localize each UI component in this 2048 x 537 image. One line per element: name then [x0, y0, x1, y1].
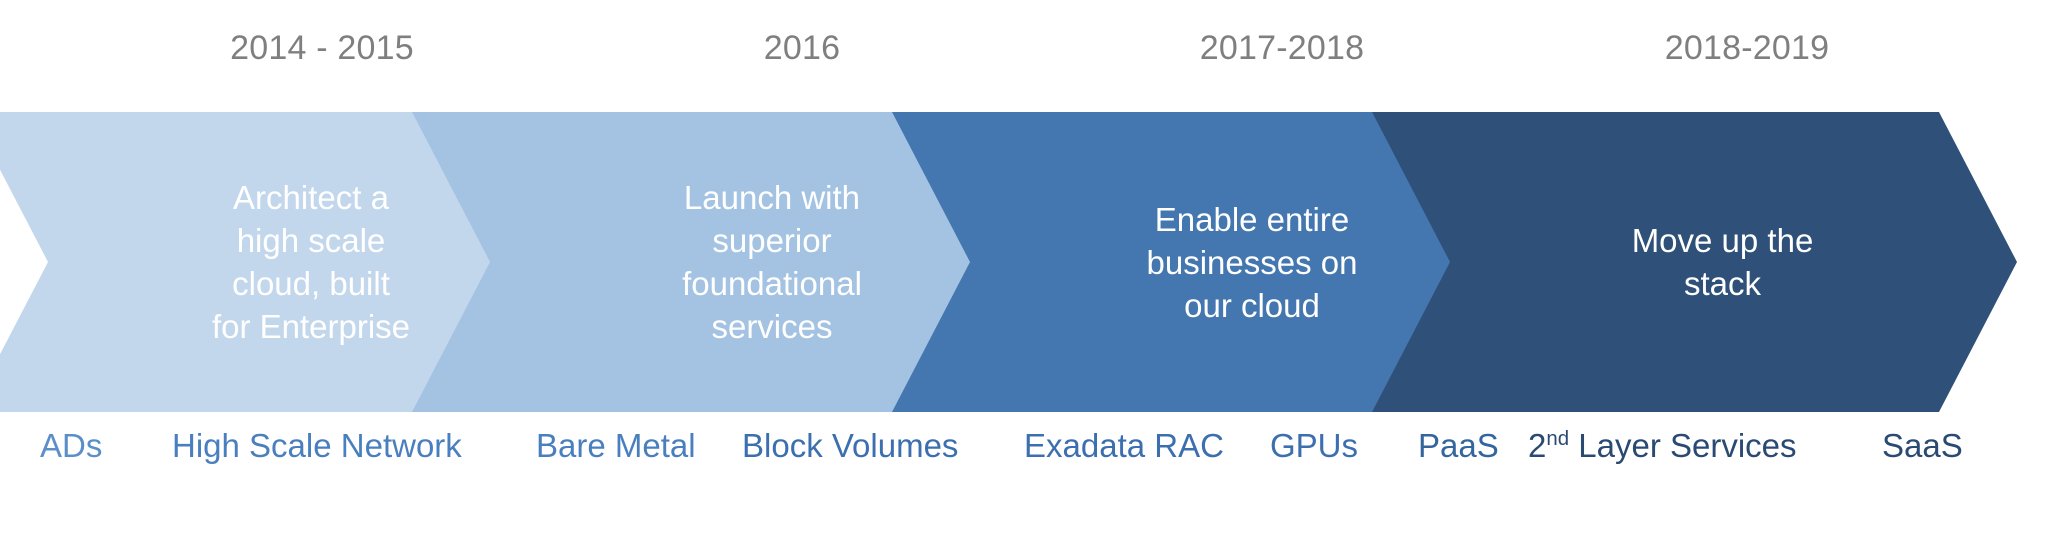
service-label-gpus[interactable]: GPUs	[1270, 424, 1358, 468]
service-label-block-volumes[interactable]: Block Volumes	[742, 424, 958, 468]
service-label-bare-metal[interactable]: Bare Metal	[536, 424, 696, 468]
phase-4-headline: Move up the stack	[1562, 219, 1828, 305]
service-label-exadata-rac[interactable]: Exadata RAC	[1024, 424, 1224, 468]
service-label-saas[interactable]: SaaS	[1882, 424, 1963, 468]
year-label-phase-1: 2014 - 2015	[48, 26, 596, 70]
roadmap-timeline: 2014 - 2015 2016 2017-2018 2018-2019 Arc…	[0, 0, 2048, 537]
service-label-second-layer-services[interactable]: 2nd Layer Services	[1528, 424, 1797, 468]
service-label-paas[interactable]: PaaS	[1418, 424, 1499, 468]
phase-3-headline: Enable entire businesses on our cloud	[1077, 198, 1372, 327]
service-label-ads[interactable]: ADs	[40, 424, 102, 468]
second-layer-ordinal-suffix: nd	[1546, 427, 1569, 450]
year-label-phase-2: 2016	[528, 26, 1076, 70]
phase-chevron-4[interactable]: Move up the stack	[1372, 112, 2017, 412]
second-layer-ordinal-number: 2	[1528, 427, 1546, 464]
service-label-high-scale-network[interactable]: High Scale Network	[172, 424, 462, 468]
phase-1-headline: Architect a high scale cloud, built for …	[142, 176, 424, 348]
second-layer-services-text: Layer Services	[1569, 427, 1796, 464]
phase-2-headline: Launch with superior foundational servic…	[612, 176, 876, 348]
year-label-phase-4: 2018-2019	[1462, 26, 2032, 70]
